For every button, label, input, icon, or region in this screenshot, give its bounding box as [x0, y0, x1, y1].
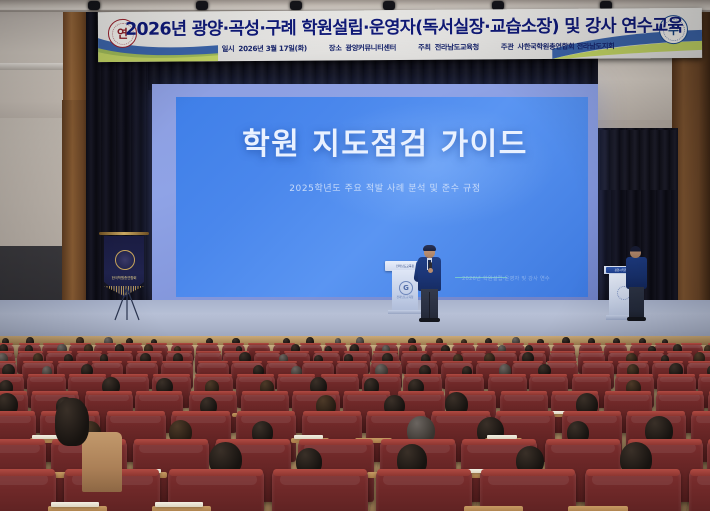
banner-detail-host-value: 전라남도교육청	[435, 42, 479, 52]
banner-detail-datetime: 일시	[222, 44, 235, 54]
seat-headrest	[95, 343, 116, 346]
speaker-leg-split	[429, 292, 430, 320]
seat-headrest	[23, 361, 53, 364]
seat-headrest	[321, 374, 358, 377]
auditorium-seat[interactable]	[585, 470, 681, 511]
seat-headrest	[278, 374, 315, 377]
auditorium-photo: 학원 지도점검 가이드 2025학년도 주요 적발 사례 분석 및 준수 규정 …	[0, 0, 710, 511]
seat-headrest	[453, 343, 474, 346]
seat-headrest	[344, 391, 390, 395]
seat-headrest	[127, 361, 157, 364]
left-wood-column-upper	[63, 10, 87, 110]
seat-headrest	[111, 374, 148, 377]
seat-headrest	[605, 391, 651, 395]
speaker-hand	[428, 268, 433, 273]
auditorium-seat[interactable]	[480, 470, 576, 511]
seat-headrest	[513, 361, 543, 364]
seat-headrest	[477, 343, 498, 346]
seat-headrest	[299, 439, 373, 445]
seat-headrest	[580, 343, 601, 346]
seat-headrest	[136, 391, 182, 395]
seat-headrest	[344, 351, 369, 354]
handout-paper[interactable]	[155, 502, 203, 507]
seat-headrest	[501, 391, 547, 395]
ceiling-spotlight-icon	[196, 1, 208, 10]
seat-headrest	[77, 351, 102, 354]
seat-headrest	[267, 361, 297, 364]
seat-headrest	[195, 374, 232, 377]
seat-headrest	[605, 343, 626, 346]
seat-headrest	[197, 343, 218, 346]
seat-headrest	[489, 374, 526, 377]
attendee-head	[55, 398, 89, 446]
slide-subtitle: 2025학년도 주요 적발 사례 분석 및 준수 규정	[220, 178, 550, 196]
seat-tablet-arm[interactable]	[464, 506, 524, 511]
seat-headrest	[153, 374, 190, 377]
banner-detail-datetime-value: 2026년 3월 17일(화)	[238, 43, 307, 53]
seat-headrest	[477, 361, 507, 364]
pennant-tripod-stand	[110, 288, 144, 322]
seat-headrest	[169, 469, 263, 476]
seat-headrest	[432, 351, 457, 354]
seat-headrest	[530, 374, 567, 377]
lectern-base	[388, 310, 422, 314]
seat-headrest	[692, 411, 710, 416]
seat-headrest	[667, 351, 692, 354]
seat-tablet-arm[interactable]	[48, 506, 108, 511]
seat-headrest	[528, 343, 549, 346]
seat-headrest	[583, 361, 613, 364]
auditorium-seat[interactable]	[0, 470, 56, 511]
seat-headrest	[232, 361, 262, 364]
seat-headrest	[0, 374, 23, 377]
seat-headrest	[137, 351, 162, 354]
seat-headrest	[314, 351, 339, 354]
right-person-shoes	[627, 317, 646, 321]
seat-headrest	[398, 391, 444, 395]
seat-headrest	[303, 411, 361, 416]
seat-headrest	[325, 343, 346, 346]
seat-headrest	[172, 411, 230, 416]
seat-headrest	[657, 391, 703, 395]
handout-paper[interactable]	[51, 502, 99, 507]
attendee-in-coat	[82, 432, 122, 492]
seat-headrest	[631, 343, 652, 346]
seat-headrest	[223, 343, 244, 346]
auditorium-seat[interactable]	[272, 470, 368, 511]
auditorium-seat[interactable]	[376, 470, 472, 511]
seat-headrest	[237, 411, 295, 416]
right-person-head	[630, 246, 641, 258]
seat-headrest	[442, 361, 472, 364]
banner-detail-host: 주최	[418, 42, 431, 52]
lectern-logo-text: 전라남도교육청	[396, 294, 414, 299]
seat-headrest	[293, 391, 339, 395]
seat-headrest	[616, 374, 653, 377]
seat-headrest	[0, 361, 16, 364]
seat-headrest	[553, 343, 574, 346]
seat-headrest	[0, 411, 35, 416]
seat-headrest	[32, 391, 78, 395]
seat-tablet-arm[interactable]	[568, 506, 628, 511]
stage-curtain-right-top	[600, 130, 676, 190]
seat-headrest	[107, 411, 165, 416]
seat-headrest	[690, 469, 710, 476]
seat-headrest	[198, 361, 228, 364]
seat-headrest	[121, 343, 142, 346]
slide-caption: 2026년 학원설립·운영자 및 강사 연수	[462, 272, 582, 284]
seat-headrest	[237, 374, 274, 377]
seat-headrest	[284, 351, 309, 354]
auditorium-seat[interactable]	[689, 470, 710, 511]
seat-headrest	[303, 361, 333, 364]
seat-headrest	[461, 351, 486, 354]
seat-tablet-arm[interactable]	[152, 506, 212, 511]
handout-paper[interactable]	[294, 435, 324, 439]
banner-detail-organizer: 주관	[501, 42, 514, 52]
seat-headrest	[300, 343, 321, 346]
seat-headrest	[462, 439, 536, 445]
seat-headrest	[546, 439, 620, 445]
seat-headrest	[496, 411, 554, 416]
seat-headrest	[699, 374, 710, 377]
seat-headrest	[402, 351, 427, 354]
seat-headrest	[172, 343, 193, 346]
banner-title: 2026년 광양·곡성·구례 학원설립·운영자(독서실장·교습소장) 및 강사 …	[144, 12, 664, 41]
right-person-torso	[626, 257, 647, 289]
pennant-emblem-icon	[115, 250, 135, 270]
seat-headrest	[618, 361, 648, 364]
handout-paper[interactable]	[487, 435, 517, 439]
pennant-text: 한국학원총연합회	[104, 274, 144, 282]
banner-details: 일시 2026년 3월 17일(화) 장소 광양커뮤니티센터 주최 전라남도교육…	[158, 37, 678, 58]
seat-headrest	[58, 361, 88, 364]
speaker-shoes	[419, 318, 440, 322]
seat-headrest	[377, 469, 471, 476]
seat-headrest	[404, 374, 441, 377]
seat-headrest	[639, 351, 664, 354]
seat-headrest	[107, 351, 132, 354]
banner-detail-place: 장소	[329, 43, 342, 53]
seat-headrest	[688, 361, 710, 364]
seat-headrest	[92, 361, 122, 364]
seat-headrest	[381, 439, 455, 445]
seat-headrest	[371, 361, 401, 364]
banner-detail-place-value: 광양커뮤니티센터	[346, 43, 397, 53]
seat-headrest	[69, 374, 106, 377]
seat-headrest	[550, 351, 575, 354]
seat-headrest	[0, 439, 45, 445]
speaker-hair	[423, 245, 436, 251]
tripod-icon	[110, 288, 144, 322]
seat-headrest	[0, 469, 55, 476]
seat-headrest	[491, 351, 516, 354]
ceiling-spotlight-icon	[88, 1, 100, 10]
seat-headrest	[573, 374, 610, 377]
stage-floor	[0, 300, 710, 340]
seat-headrest	[547, 361, 577, 364]
seat-headrest	[248, 343, 269, 346]
seat-headrest	[134, 439, 208, 445]
slide-title: 학원 지도점검 가이드	[200, 118, 570, 164]
seat-headrest	[681, 343, 702, 346]
seat-headrest	[627, 411, 685, 416]
seat-headrest	[586, 469, 680, 476]
seat-headrest	[658, 374, 695, 377]
seat-headrest	[655, 343, 676, 346]
seat-headrest	[162, 361, 192, 364]
lectern-logo-icon: G	[399, 281, 413, 295]
seat-headrest	[196, 351, 221, 354]
seat-headrest	[367, 411, 425, 416]
seat-headrest	[446, 374, 483, 377]
seat-headrest	[255, 351, 280, 354]
seat-headrest	[273, 469, 367, 476]
seat-headrest	[337, 361, 367, 364]
seat-headrest	[47, 351, 72, 354]
banner-detail-organizer-value: 사한국학원총연합회 전라남도지회	[518, 41, 615, 52]
seat-headrest	[86, 391, 132, 395]
seat-headrest	[481, 469, 575, 476]
event-banner: 연 수 2026년 광양·곡성·구례 학원설립·운영자(독서실장·교습소장) 및…	[98, 8, 702, 62]
pennant-crossbar	[99, 232, 149, 235]
seat-headrest	[432, 411, 490, 416]
ceiling-spotlight-icon	[290, 1, 302, 10]
seat-headrest	[407, 361, 437, 364]
seat-headrest	[190, 391, 236, 395]
ceiling-spotlight-icon	[383, 1, 395, 10]
seat-headrest	[579, 351, 604, 354]
right-person-legs	[629, 287, 644, 320]
seat-headrest	[363, 374, 400, 377]
seat-headrest	[563, 411, 621, 416]
seat-headrest	[503, 343, 524, 346]
seat-headrest	[242, 391, 288, 395]
seat-headrest	[28, 374, 65, 377]
